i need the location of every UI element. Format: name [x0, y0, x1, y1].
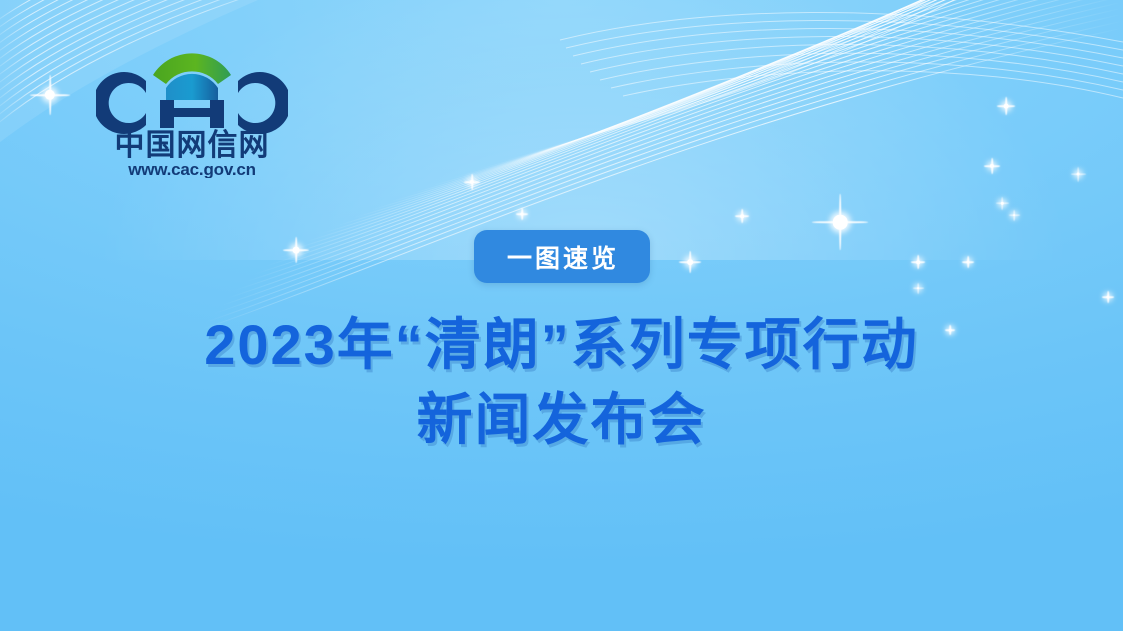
poster-canvas: 中国网信网 www.cac.gov.cn 一图速览 2023年“清朗”系列专项行…	[0, 0, 1123, 631]
page-title-line-1: 2023年“清朗”系列专项行动	[204, 309, 919, 382]
page-title-line-2: 新闻发布会	[204, 384, 919, 457]
content-stage: 一图速览 2023年“清朗”系列专项行动 新闻发布会	[0, 0, 1123, 631]
page-title: 2023年“清朗”系列专项行动 新闻发布会	[204, 309, 919, 457]
badge-yitusulan[interactable]: 一图速览	[474, 230, 650, 283]
